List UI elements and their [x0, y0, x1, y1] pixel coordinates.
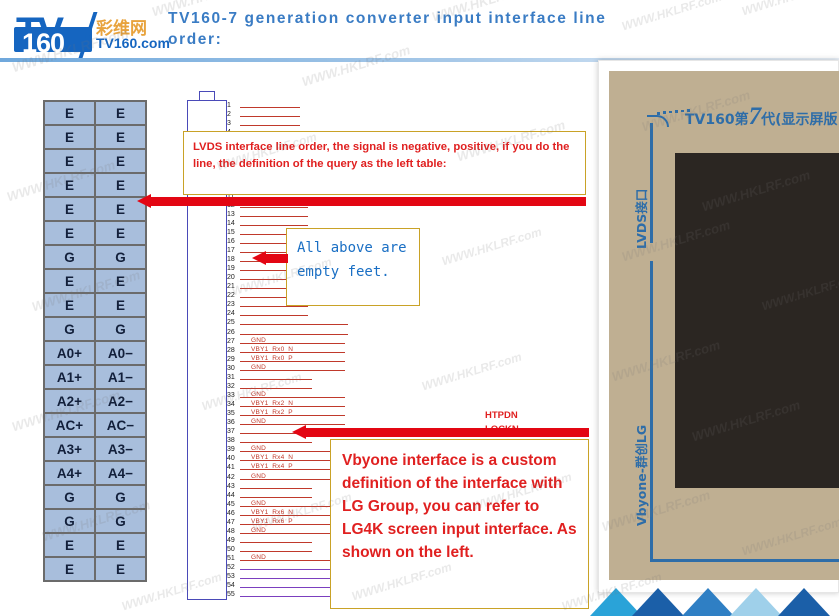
- table-row: GG: [45, 486, 147, 510]
- table-cell: E: [96, 222, 147, 246]
- arrow-head-icon: [252, 251, 266, 265]
- connector-pin-row: 28VBY1_Rx0_N: [227, 347, 360, 356]
- pin-number: 25: [227, 318, 239, 327]
- pin-number: 53: [227, 572, 239, 581]
- pin-number: 27: [227, 337, 239, 346]
- table-cell: E: [45, 150, 96, 174]
- pin-number: 29: [227, 355, 239, 364]
- table-cell: A0+: [45, 342, 96, 366]
- table-cell: G: [45, 510, 96, 534]
- pin-number: 43: [227, 482, 239, 491]
- pin-definition-table: EEEEEEEEEEEEGGEEEEGGA0+A0−A1+A1−A2+A2−AC…: [43, 100, 147, 582]
- callout-empty-pins-note: All above are empty feet.: [286, 228, 420, 306]
- table-cell: A2−: [96, 390, 147, 414]
- pin-number: 18: [227, 255, 239, 264]
- page-header: TV 160 彩维网 TV160.com TV160-7 generation …: [0, 0, 839, 62]
- arrow-pointer-lvds: [137, 194, 586, 208]
- table-cell: A4+: [45, 462, 96, 486]
- table-cell: G: [96, 486, 147, 510]
- pin-signal-label: GND: [251, 472, 266, 482]
- vbyone-port-label: Vbyone-群创LG: [631, 425, 650, 526]
- table-cell: E: [96, 294, 147, 318]
- pin-number: 2: [227, 110, 239, 119]
- table-cell: E: [45, 222, 96, 246]
- arrow-pointer-empty: [252, 251, 288, 265]
- logo-domain-text: TV160.com: [96, 35, 170, 51]
- table-cell: E: [45, 198, 96, 222]
- table-cell: E: [96, 150, 147, 174]
- device-photo-panel: TV160第7代(显示屏版 LVDS接口 Vbyone-群创LG: [598, 60, 839, 593]
- pin-number: 48: [227, 527, 239, 536]
- table-cell: E: [96, 102, 147, 126]
- logo-number-text: 160: [22, 28, 64, 59]
- lead-dash-decor: [657, 112, 660, 115]
- pin-trace: [240, 324, 348, 325]
- pin-number: 1: [227, 101, 239, 110]
- pin-number: 16: [227, 237, 239, 246]
- table-row: EE: [45, 294, 147, 318]
- pin-number: 42: [227, 473, 239, 482]
- pin-number: 36: [227, 418, 239, 427]
- connector-pin-row: 2: [227, 111, 360, 120]
- pin-signal-label: GND: [251, 553, 266, 563]
- callout-vbyone-text: Vbyone interface is a custom definition …: [342, 449, 577, 564]
- pin-number: 24: [227, 309, 239, 318]
- table-row: A2+A2−: [45, 390, 147, 414]
- table-cell: E: [96, 126, 147, 150]
- connector-pin-row: 3: [227, 120, 360, 129]
- connector-pin-row: 26: [227, 329, 360, 338]
- pin-number: 14: [227, 219, 239, 228]
- table-cell: A1+: [45, 366, 96, 390]
- table-cell: E: [96, 270, 147, 294]
- site-logo: TV 160 彩维网 TV160.com: [8, 8, 148, 54]
- pin-number: 30: [227, 364, 239, 373]
- table-cell: G: [45, 318, 96, 342]
- pin-trace: [240, 125, 300, 126]
- pin-number: 54: [227, 581, 239, 590]
- pin-number: 22: [227, 291, 239, 300]
- signal-label-htpdn: HTPDN: [485, 410, 518, 421]
- decor-triangle: [778, 588, 830, 616]
- device-screen-area: [675, 153, 839, 488]
- table-row: EE: [45, 198, 147, 222]
- lead-dash-decor: [669, 111, 672, 114]
- arrow-shaft: [266, 254, 288, 263]
- table-row: A0+A0−: [45, 342, 147, 366]
- pin-trace: [240, 388, 312, 389]
- table-row: GG: [45, 510, 147, 534]
- table-cell: E: [45, 270, 96, 294]
- pin-number: 46: [227, 509, 239, 518]
- table-row: GG: [45, 246, 147, 270]
- connector-pin-row: 27GND: [227, 338, 360, 347]
- table-cell: E: [45, 102, 96, 126]
- pin-number: 17: [227, 246, 239, 255]
- pin-number: 32: [227, 382, 239, 391]
- arrow-head-icon: [292, 425, 306, 439]
- pin-signal-label: GND: [251, 363, 266, 373]
- connector-pin-row: 30GND: [227, 365, 360, 374]
- decor-triangle: [682, 588, 734, 616]
- pin-number: 39: [227, 445, 239, 454]
- pin-trace: [240, 334, 348, 335]
- table-row: EE: [45, 174, 147, 198]
- pin-number: 38: [227, 436, 239, 445]
- table-row: EE: [45, 534, 147, 558]
- table-cell: E: [96, 558, 147, 582]
- pin-number: 40: [227, 454, 239, 463]
- pin-trace: [240, 216, 308, 217]
- callout-empty-text: All above are empty feet.: [297, 236, 409, 284]
- pin-signal-label: GND: [251, 526, 266, 536]
- pin-trace: [240, 116, 300, 117]
- pin-trace: [240, 442, 312, 443]
- connector-pin-row: 35VBY1_Rx2_P: [227, 410, 360, 419]
- device-title-suffix: 代(显示屏版: [761, 112, 837, 128]
- table-cell: A3−: [96, 438, 147, 462]
- pin-trace: [240, 225, 308, 226]
- pin-number: 49: [227, 536, 239, 545]
- lead-dash-decor: [681, 110, 684, 113]
- connector-pin-row: 1: [227, 102, 360, 111]
- table-row: EE: [45, 558, 147, 582]
- pin-number: 19: [227, 264, 239, 273]
- pin-number: 3: [227, 119, 239, 128]
- table-row: EE: [45, 126, 147, 150]
- pin-number: 41: [227, 463, 239, 472]
- callout-lvds-note: LVDS interface line order, the signal is…: [183, 131, 586, 195]
- decor-triangle: [730, 588, 782, 616]
- table-row: A3+A3−: [45, 438, 147, 462]
- table-cell: A3+: [45, 438, 96, 462]
- pin-number: 47: [227, 518, 239, 527]
- table-cell: E: [45, 294, 96, 318]
- connector-pin-row: 13: [227, 211, 360, 220]
- lead-dash-decor: [663, 111, 666, 114]
- callout-lvds-text: LVDS interface line order, the signal is…: [193, 139, 576, 172]
- decor-triangle: [632, 588, 684, 616]
- pin-trace: [240, 497, 312, 498]
- table-row: EE: [45, 102, 147, 126]
- pin-number: 37: [227, 427, 239, 436]
- pin-number: 44: [227, 491, 239, 500]
- pin-number: 28: [227, 346, 239, 355]
- pin-signal-label: GND: [251, 417, 266, 427]
- pin-number: 51: [227, 554, 239, 563]
- arrow-shaft: [151, 197, 586, 206]
- pin-number: 35: [227, 409, 239, 418]
- table-cell: G: [45, 486, 96, 510]
- pin-trace: [240, 379, 312, 380]
- vbyone-lead-elbow-vertical: [650, 501, 653, 561]
- table-cell: G: [96, 510, 147, 534]
- pin-number: 55: [227, 590, 239, 599]
- lvds-port-label: LVDS接口: [631, 189, 650, 249]
- page-root: TV 160 彩维网 TV160.com TV160-7 generation …: [0, 0, 839, 616]
- vbyone-lead-elbow-horizontal: [650, 559, 839, 562]
- connector-pin-row: 29VBY1_Rx0_P: [227, 356, 360, 365]
- table-row: EE: [45, 270, 147, 294]
- pin-number: 45: [227, 500, 239, 509]
- pin-trace: [240, 551, 312, 552]
- connector-pin-row: 32: [227, 383, 360, 392]
- arrow-head-icon: [137, 194, 151, 208]
- table-cell: E: [45, 534, 96, 558]
- table-row: EE: [45, 222, 147, 246]
- watermark-text: WWW.HKLRF.com: [420, 350, 523, 394]
- pin-number: 31: [227, 373, 239, 382]
- pin-number: 20: [227, 273, 239, 282]
- table-cell: G: [45, 246, 96, 270]
- pin-trace: [240, 107, 300, 108]
- arrow-pointer-vbyone: [292, 425, 589, 439]
- pin-number: 13: [227, 210, 239, 219]
- device-title-prefix: TV160第: [685, 112, 749, 128]
- device-photo-image: TV160第7代(显示屏版 LVDS接口 Vbyone-群创LG: [609, 71, 839, 580]
- pin-number: 50: [227, 545, 239, 554]
- table-cell: AC+: [45, 414, 96, 438]
- vbyone-lead-line: [650, 261, 653, 511]
- device-photo-title: TV160第7代(显示屏版: [685, 103, 838, 131]
- table-cell: A2+: [45, 390, 96, 414]
- table-cell: E: [45, 126, 96, 150]
- pin-trace: [240, 315, 308, 316]
- table-row: AC+AC−: [45, 414, 147, 438]
- pin-trace: [240, 488, 312, 489]
- table-row: GG: [45, 318, 147, 342]
- table-cell: AC−: [96, 414, 147, 438]
- page-title: TV160-7 generation converter input inter…: [168, 8, 618, 50]
- table-cell: A0−: [96, 342, 147, 366]
- pin-number: 15: [227, 228, 239, 237]
- lead-dash-decor: [675, 110, 678, 113]
- table-cell: A4−: [96, 462, 147, 486]
- connector-pin-row: 34VBY1_Rx2_N: [227, 401, 360, 410]
- table-cell: G: [96, 246, 147, 270]
- table-row: EE: [45, 150, 147, 174]
- table-cell: E: [45, 174, 96, 198]
- table-cell: G: [96, 318, 147, 342]
- connector-pin-row: 25: [227, 319, 360, 328]
- pin-number: 23: [227, 300, 239, 309]
- pin-number: 34: [227, 400, 239, 409]
- lvds-lead-line: [650, 123, 653, 243]
- bottom-triangle-decor: [590, 588, 839, 616]
- arrow-shaft: [306, 428, 589, 437]
- pin-number: 26: [227, 328, 239, 337]
- pin-number: 52: [227, 563, 239, 572]
- table-row: A4+A4−: [45, 462, 147, 486]
- watermark-text: WWW.HKLRF.com: [440, 225, 543, 269]
- connector-pin-row: 31: [227, 374, 360, 383]
- pin-number: 21: [227, 282, 239, 291]
- pin-trace: [240, 542, 312, 543]
- connector-pin-row: 33GND: [227, 392, 360, 401]
- pin-number: 33: [227, 391, 239, 400]
- callout-vbyone-note: Vbyone interface is a custom definition …: [330, 439, 589, 609]
- pin-trace: [240, 306, 308, 307]
- device-title-generation: 7: [749, 103, 762, 130]
- table-cell: E: [96, 534, 147, 558]
- table-row: A1+A1−: [45, 366, 147, 390]
- table-cell: A1−: [96, 366, 147, 390]
- table-cell: E: [45, 558, 96, 582]
- lead-dash-decor: [687, 109, 690, 112]
- connector-pin-row: 24: [227, 310, 360, 319]
